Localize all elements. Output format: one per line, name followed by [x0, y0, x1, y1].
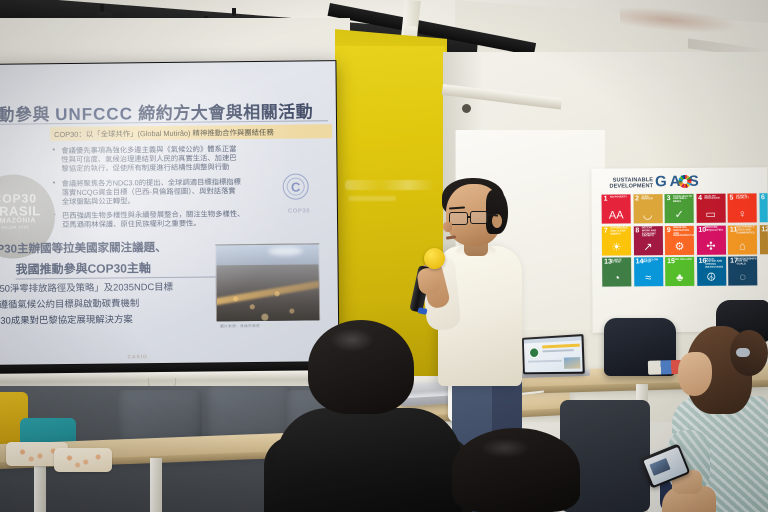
sdg-goal-name: LIFE ON LAND	[674, 258, 693, 261]
wall-scuff	[348, 196, 396, 201]
slide-section-line: COP30成果對巴黎協定展現解決方案	[0, 311, 210, 327]
slide-section-heading-1: COP30主辦國等拉美國家關注議題、	[0, 239, 209, 257]
laptop-display	[524, 336, 583, 372]
sdg-goal-name: REDUCED INEQUALITIES	[705, 227, 724, 233]
sdg-goal-number: 7	[604, 227, 608, 234]
sdg-goal-10: 10REDUCED INEQUALITIES✣	[696, 225, 725, 254]
sdg-goal-name: QUALITY EDUCATION	[705, 195, 724, 201]
slide-title-cjk: 推動參與	[0, 105, 55, 125]
sdg-goal-number: 3	[667, 195, 671, 202]
sdg-goal-icon: ↓	[759, 208, 768, 220]
sdg-goal-icon: ∞	[759, 240, 768, 252]
open-laptop[interactable]	[522, 334, 585, 374]
sdg-goal-name: LIFE BELOW WATER	[642, 259, 661, 265]
presenter-hand	[416, 267, 441, 296]
sdg-goal-name: PEACE, JUSTICE AND STRONG INSTITUTIONS	[705, 258, 724, 269]
unfccc-logo-letter: C	[291, 179, 301, 194]
cop30-wordmark: COP30	[283, 207, 315, 223]
sdg-header-goals: G ALS	[655, 175, 698, 189]
cop30-logo-line3: AMAZÔNIA	[0, 218, 57, 226]
bullet-line: 黎協定的執行，促使所有制度進行結構性調整與行動	[61, 162, 330, 174]
sdg-goal-icon: AA	[602, 209, 631, 221]
page-banner	[542, 344, 580, 349]
sdg-goal-11: 11SUSTAINABLE CITIES AND COMMUNITIES⌂	[728, 225, 757, 254]
slide-photo-caption: 圖片來源：貝倫市政府	[220, 324, 260, 329]
presenter-nose	[443, 222, 452, 232]
projection-screen[interactable]: 推動參與 UNFCCC 締約方大會與相關活動 COP30：以「全球共作」(Glo…	[0, 60, 340, 374]
sdg-header-line2: DEVELOPMENT	[609, 183, 653, 189]
sdg-goal-icon: ◡	[633, 209, 662, 221]
sdg-goal-icon: ♀	[728, 208, 757, 220]
sdg-goal-icon: ☮	[697, 272, 726, 284]
sdg-goal-number: 6	[761, 194, 765, 201]
sdg-goal-icon: ≈	[634, 272, 663, 284]
sdg-goal-15: 15LIFE ON LAND♣	[665, 257, 694, 286]
hair-highlight	[480, 438, 530, 458]
sdg-header-subtitle: SUSTAINABLE DEVELOPMENT	[609, 177, 653, 189]
slide-section-line: 「2050淨零排放路徑及策略」及2035NDC目標	[0, 279, 210, 295]
cop30-logo-line2: BRASIL	[0, 204, 57, 218]
sdg-goal-number: 1	[604, 196, 608, 203]
slide-band-text: COP30：以「全球共作」(Global Mutirão) 精神推動合作與團結任…	[54, 125, 330, 141]
sdg-goal-number: 2	[635, 195, 639, 202]
sdg-goal-grid: 1NO POVERTYAA2ZERO HUNGER◡3GOOD HEALTH A…	[602, 193, 768, 287]
sdg-goal-name: SUSTAINABLE CITIES AND COMMUNITIES	[736, 226, 755, 235]
hair-highlight	[330, 328, 374, 352]
sdg-goal-4: 4QUALITY EDUCATION▭	[696, 194, 725, 223]
sdg-goal-2: 2ZERO HUNGER◡	[633, 194, 662, 223]
sdg-goal-number: 8	[635, 227, 639, 234]
slide-photo-aerial-city	[215, 243, 320, 322]
sdg-goal-1: 1NO POVERTYAA	[602, 194, 631, 223]
sdg-goal-name: GOOD HEALTH AND WELL-BEING	[673, 195, 692, 204]
sdg-goal-number: 4	[698, 195, 702, 202]
sdg-goal-name: AFFORDABLE AND CLEAN ENERGY	[610, 227, 629, 236]
table-leg	[34, 458, 46, 512]
sdg-goal-icon: ✓	[665, 209, 694, 221]
sdg-goal-number: 5	[730, 195, 734, 202]
sdg-goal-icon: ☀	[602, 241, 631, 253]
sdg-goal-8: 8DECENT WORK AND ECONOMIC GROWTH↗	[633, 226, 662, 255]
sdg-goal-16: 16PEACE, JUSTICE AND STRONG INSTITUTIONS…	[697, 257, 726, 286]
sdg-goal-6: 6CLEAN WATER AND SANITATION↓	[759, 193, 768, 222]
motion-sensor-icon	[462, 104, 471, 113]
sdg-goal-number: 9	[667, 227, 671, 234]
browser-bar	[524, 336, 582, 343]
room-scene: 推動參與 UNFCCC 締約方大會與相關活動 COP30：以「全球共作」(Glo…	[0, 0, 768, 512]
sdg-goal-5: 5GENDER EQUALITY♀	[728, 193, 757, 222]
unfccc-logo-icon: C	[283, 173, 309, 199]
attendee-front-body	[276, 408, 462, 512]
presentation-slide: 推動參與 UNFCCC 締約方大會與相關活動 COP30：以「全球共作」(Glo…	[0, 61, 339, 365]
sdg-goal-9: 9INDUSTRY, INNOVATION AND INFRASTRUCTURE…	[665, 225, 694, 254]
slide-surface: 推動參與 UNFCCC 締約方大會與相關活動 COP30：以「全球共作」(Glo…	[0, 61, 339, 365]
page-text-line	[542, 349, 573, 352]
sdg-goal-icon: ↗	[633, 241, 662, 253]
page-text-line	[528, 360, 562, 363]
sdg-goal-name: GENDER EQUALITY	[736, 195, 755, 201]
glasses-lens-right	[470, 211, 488, 224]
sdg-goal-name: DECENT WORK AND ECONOMIC GROWTH	[642, 227, 661, 238]
sdg-goal-7: 7AFFORDABLE AND CLEAN ENERGY☀	[602, 226, 631, 255]
sdg-poster-header: SUSTAINABLE DEVELOPMENT G ALS	[609, 175, 698, 190]
wall-scuff	[345, 180, 435, 190]
sdg-color-wheel-icon	[679, 174, 692, 187]
sdg-goal-name: INDUSTRY, INNOVATION AND INFRASTRUCTURE	[673, 227, 692, 238]
sdg-goal-icon: ✣	[696, 240, 725, 252]
sdg-goal-name: ZERO HUNGER	[642, 196, 661, 202]
sdg-goal-3: 3GOOD HEALTH AND WELL-BEING✓	[665, 194, 694, 223]
glasses-bridge	[467, 216, 471, 218]
slide-title-en: UNFCCC	[55, 104, 133, 124]
sdg-goal-name: PARTNERSHIPS FOR THE GOALS	[737, 258, 756, 267]
sdg-goal-icon: ◌	[728, 271, 757, 283]
sdg-goal-12: 12RESPONSIBLE CONSUMPTION AND PRODUCTION…	[759, 225, 768, 254]
microphone-head-icon[interactable]	[424, 248, 445, 269]
sdg-goal-icon: ◔	[602, 272, 631, 284]
sdg-goal-icon: ▭	[696, 209, 725, 221]
sdg-goal-17: 17PARTNERSHIPS FOR THE GOALS◌	[728, 256, 757, 285]
projector-brand-label: CASIO	[127, 354, 147, 360]
slide-section-heading-2: 我國推動參與COP30主軸	[15, 258, 225, 279]
sdg-goal-icon: ♣	[665, 272, 694, 284]
table-leg	[150, 458, 162, 512]
attendee-right-face	[678, 352, 712, 396]
slide-section-line: 我國遵循氣候公約目標與啟動碳費機制	[0, 295, 210, 311]
sdg-goal-13: 13CLIMATE ACTION◔	[602, 257, 631, 286]
sdg-goal-14: 14LIFE BELOW WATER≈	[634, 257, 663, 286]
cop30-logo-text: COP30 BRASIL AMAZÔNIA BELÉM 2025	[0, 192, 57, 230]
list-item: 會議優先事項為強化多邊主義與《氣候公約》體系正當 性與可信度、氣候治理連結到人民…	[52, 143, 330, 174]
sdg-goal-icon: ⚙	[665, 240, 694, 252]
sdg-goal-name: NO POVERTY	[610, 196, 629, 199]
page-thumbnail	[564, 357, 581, 369]
sdg-goal-icon: ⌂	[728, 240, 757, 252]
snack-bag	[54, 448, 112, 472]
site-logo-icon	[529, 347, 540, 359]
sdg-header-goals-text: G ALS	[655, 173, 698, 190]
sdg-goal-name: CLIMATE ACTION	[611, 259, 630, 265]
hair-tie	[736, 348, 750, 357]
